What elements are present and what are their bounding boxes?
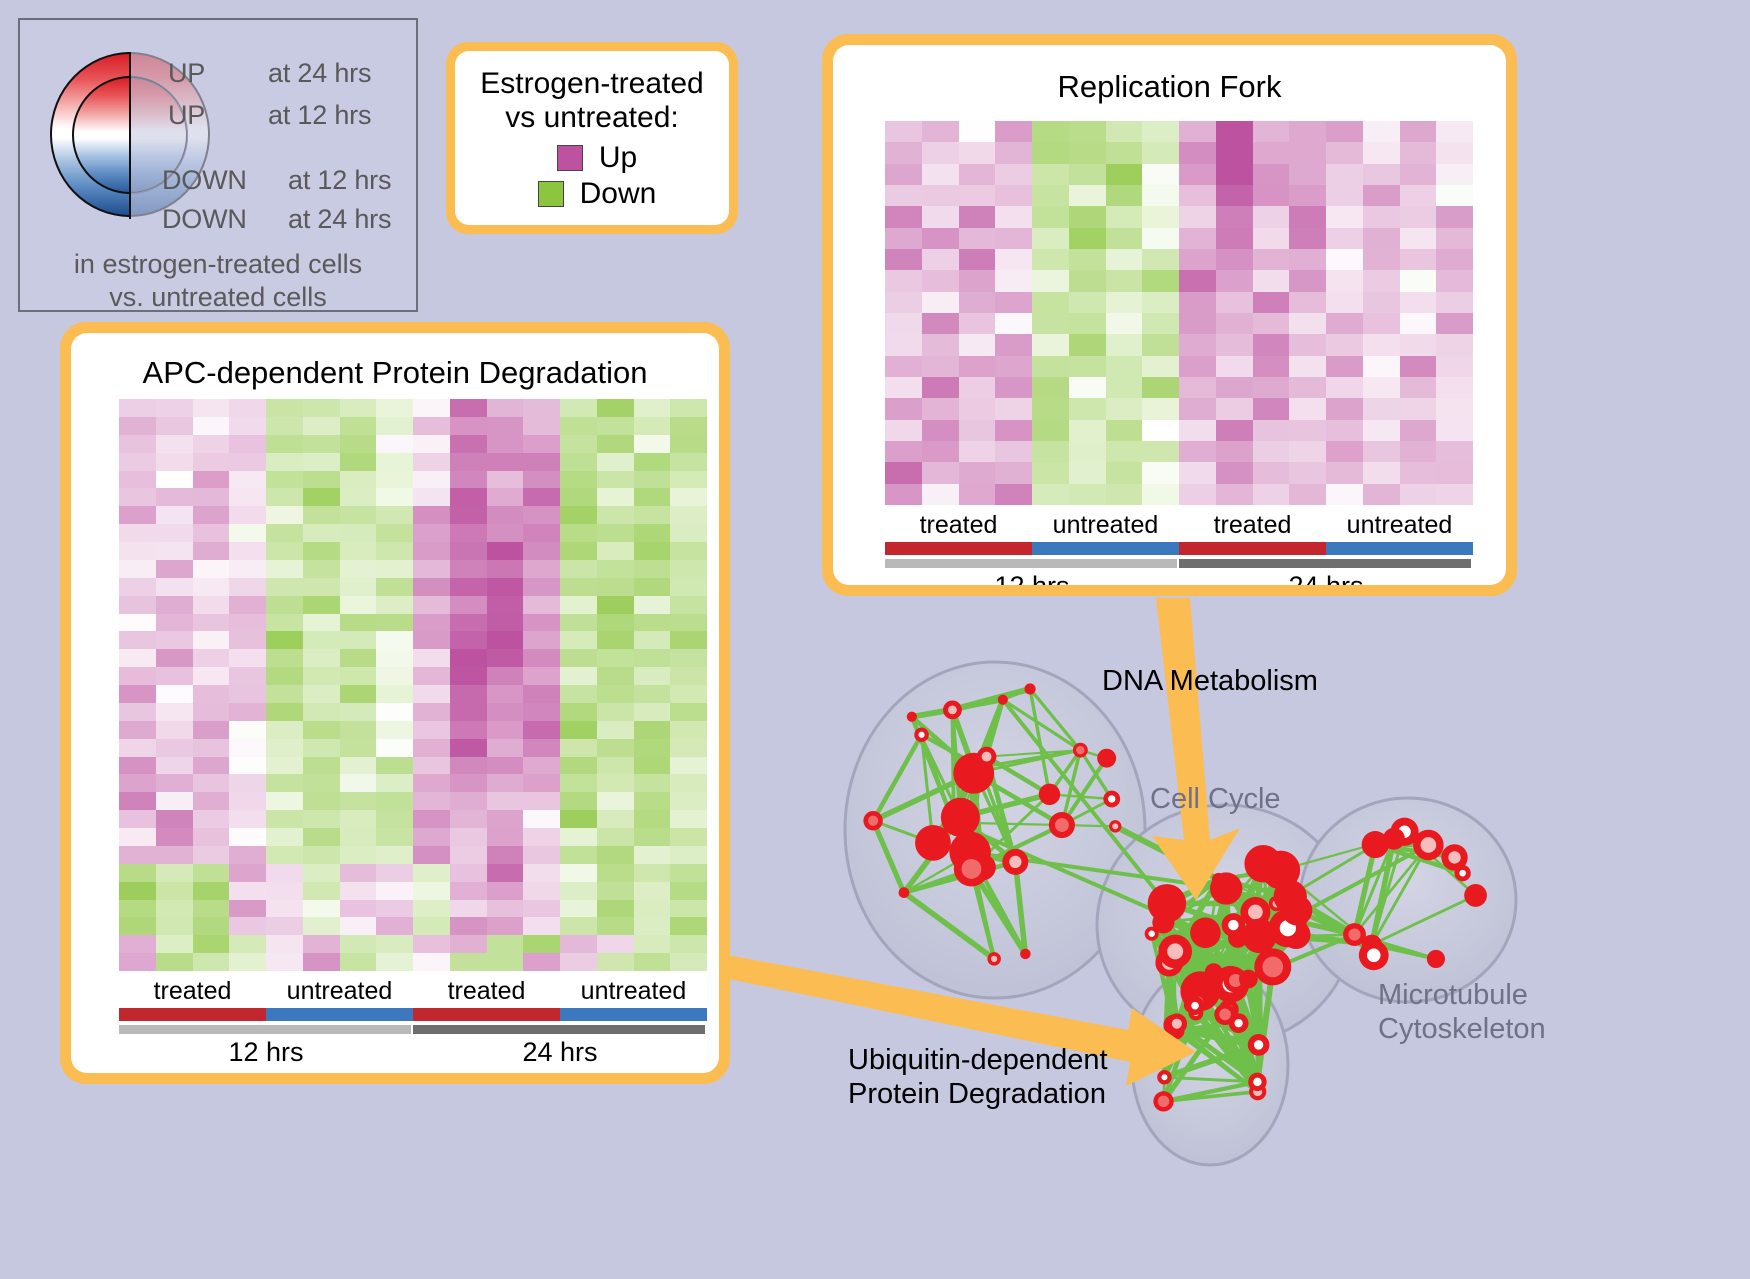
timepoint-bars-apc <box>119 1025 707 1034</box>
legend-item-down: Down <box>538 179 657 209</box>
network-node[interactable] <box>915 825 951 861</box>
caption-line-2: vs. untreated cells <box>20 281 416 314</box>
heatmap-replication-fork <box>885 121 1473 505</box>
caption-line-1: in estrogen-treated cells <box>20 248 416 281</box>
condition-labels-replication-fork: treateduntreatedtreateduntreated <box>885 511 1473 540</box>
network-node-core <box>1167 943 1183 959</box>
condition-label: untreated <box>1326 511 1473 540</box>
legend-title-line-1: Estrogen-treated <box>480 67 703 101</box>
timepoint-label: 12 hrs <box>119 1037 413 1068</box>
network-node-core <box>1348 928 1360 940</box>
condition-label: treated <box>1179 511 1326 540</box>
panel-title-apc: APC-dependent Protein Degradation <box>71 355 719 391</box>
condition-label: untreated <box>560 977 707 1006</box>
wheel-label-time-24b: at 24 hrs <box>288 204 391 235</box>
network-node-core <box>1158 1096 1169 1107</box>
timepoint-label: 24 hrs <box>413 1037 707 1068</box>
colorwheel-legend-box: UP at 24 hrs UP at 12 hrs DOWN at 12 hrs… <box>18 18 418 312</box>
timepoint-bar-segment <box>885 559 1177 568</box>
network-diagram <box>790 610 1580 1270</box>
network-node-core <box>982 752 992 762</box>
condition-bars-apc <box>119 1008 707 1021</box>
network-node[interactable] <box>899 887 910 898</box>
network-node-core <box>1234 1019 1242 1027</box>
condition-labels-apc: treateduntreatedtreateduntreated <box>119 977 707 1006</box>
network-node-core <box>948 705 957 714</box>
colorwheel-caption: in estrogen-treated cells vs. untreated … <box>20 248 416 314</box>
network-node-core <box>1112 823 1118 829</box>
condition-label: treated <box>885 511 1032 540</box>
network-node-core <box>1009 856 1021 868</box>
network-node-core <box>1262 957 1283 978</box>
timepoint-label: 12 hrs <box>885 571 1179 585</box>
wheel-label-time-24: at 24 hrs <box>268 58 371 89</box>
network-node-core <box>1253 1078 1261 1086</box>
wheel-label-up-12: UP <box>168 100 205 131</box>
network-label-ubiquitin-degradation: Ubiquitin-dependent Protein Degradation <box>848 1043 1108 1111</box>
condition-bar-segment <box>560 1008 707 1021</box>
network-node-core <box>961 859 981 879</box>
network-node[interactable] <box>1097 749 1116 768</box>
network-node[interactable] <box>1205 963 1223 981</box>
condition-label: untreated <box>266 977 413 1006</box>
network-node-core <box>1055 818 1069 832</box>
network-node-core <box>1172 1019 1182 1029</box>
network-node-core <box>1076 746 1084 754</box>
timepoint-bars-replication-fork <box>885 559 1473 568</box>
network-node-core <box>1448 851 1460 863</box>
network-node[interactable] <box>907 712 917 722</box>
network-node-core <box>1367 949 1381 963</box>
network-node-core <box>1219 1009 1231 1021</box>
network-label-dna-metabolism: DNA Metabolism <box>1102 664 1318 698</box>
network-node-core <box>1161 1074 1167 1080</box>
network-label-cell-cycle: Cell Cycle <box>1150 782 1281 816</box>
wheel-label-down-24: DOWN <box>162 204 247 235</box>
network-node[interactable] <box>998 695 1008 705</box>
condition-bar-segment <box>266 1008 413 1021</box>
condition-bar-segment <box>413 1008 560 1021</box>
condition-bar-segment <box>885 542 1032 555</box>
legend-label-down: Down <box>580 179 657 209</box>
network-node[interactable] <box>1242 919 1277 954</box>
network-node[interactable] <box>1383 828 1405 850</box>
timepoint-labels-apc: 12 hrs24 hrs <box>119 1037 707 1068</box>
network-node-core <box>1228 920 1238 930</box>
network-node[interactable] <box>1210 872 1242 904</box>
network-node-core <box>918 732 924 738</box>
network-node-core <box>1108 795 1115 802</box>
network-node[interactable] <box>1020 949 1031 960</box>
network-node[interactable] <box>1239 970 1258 989</box>
panel-title-replication-fork: Replication Fork <box>833 69 1506 105</box>
figure-canvas: UP at 24 hrs UP at 12 hrs DOWN at 12 hrs… <box>0 0 1750 1279</box>
condition-label: untreated <box>1032 511 1179 540</box>
condition-label: treated <box>119 977 266 1006</box>
network-node[interactable] <box>1190 918 1221 949</box>
condition-bar-segment <box>1032 542 1179 555</box>
condition-bar-segment <box>1179 542 1326 555</box>
timepoint-bar-segment <box>1179 559 1471 568</box>
network-node-core <box>1254 1040 1263 1049</box>
network-node[interactable] <box>1025 683 1036 694</box>
condition-bar-segment <box>119 1008 266 1021</box>
network-node-core <box>868 816 878 826</box>
down-swatch-icon <box>538 181 564 207</box>
network-node-core <box>1421 837 1437 853</box>
up-swatch-icon <box>557 145 583 171</box>
wheel-label-time-12b: at 12 hrs <box>288 165 391 196</box>
heatmap-apc <box>119 399 707 971</box>
wheel-label-time-12: at 12 hrs <box>268 100 371 131</box>
condition-label: treated <box>413 977 560 1006</box>
network-node[interactable] <box>1039 784 1060 805</box>
network-node-core <box>1148 931 1154 937</box>
timepoint-bar-segment <box>119 1025 411 1034</box>
timepoint-bar-segment <box>413 1025 705 1034</box>
wheel-label-up-24: UP <box>168 58 205 89</box>
panel-replication-fork: Replication Fork treateduntreatedtreated… <box>822 34 1517 596</box>
network-node-core <box>991 956 997 962</box>
panel-apc-degradation: APC-dependent Protein Degradation treate… <box>60 322 730 1084</box>
condition-bars-replication-fork <box>885 542 1473 555</box>
network-node[interactable] <box>1244 845 1281 882</box>
wheel-label-down-12: DOWN <box>162 165 247 196</box>
legend-label-up: Up <box>599 143 637 173</box>
legend-title-line-2: vs untreated: <box>480 101 703 135</box>
up-down-legend-box: Estrogen-treated vs untreated: Up Down <box>446 42 738 234</box>
network-node[interactable] <box>1427 950 1445 968</box>
colorwheel-divider <box>129 52 131 219</box>
legend-item-up: Up <box>557 143 637 173</box>
legend-title: Estrogen-treated vs untreated: <box>480 67 703 134</box>
timepoint-label: 24 hrs <box>1179 571 1473 585</box>
network-node-core <box>1459 870 1466 877</box>
network-node-core <box>1191 1002 1199 1010</box>
timepoint-labels-replication-fork: 12 hrs24 hrs <box>885 571 1473 585</box>
network-node[interactable] <box>1282 895 1313 926</box>
network-label-microtubule: Microtubule Cytoskeleton <box>1378 978 1546 1046</box>
network-node[interactable] <box>1464 884 1487 907</box>
network-node-core <box>1248 905 1263 920</box>
condition-bar-segment <box>1326 542 1473 555</box>
